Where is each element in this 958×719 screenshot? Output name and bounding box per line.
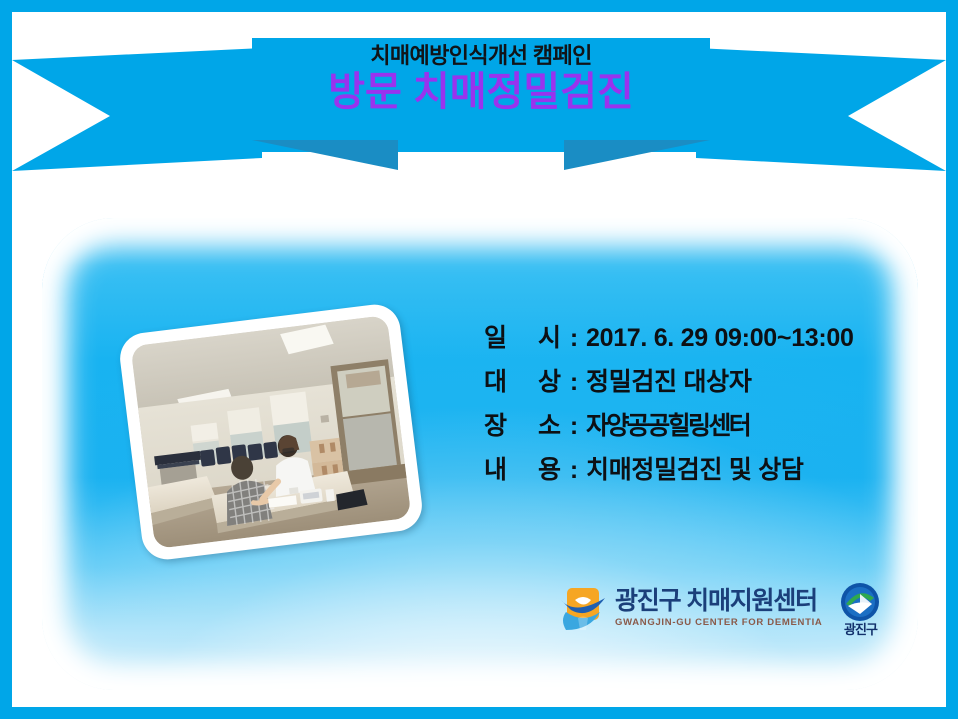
frame-border-left [0,0,12,719]
event-photo-image [131,315,412,549]
ribbon-banner [0,0,958,200]
info-value-content: 치매정밀검진 및 상담 [586,450,804,486]
info-value-place: 자양공공힐링센터 [586,406,749,442]
info-row-target: 대 상 : 정밀검진 대상자 [484,362,854,406]
dove-symbol-icon [560,586,606,632]
organization-logo: 광진구 치매지원센터 GWANGJIN-GU CENTER FOR DEMENT… [560,582,882,636]
ribbon-right-tail [696,48,946,171]
frame-border-bottom [0,707,958,719]
poster-canvas: 치매예방인식개선 캠페인 방문 치매정밀검진 [0,0,958,719]
logo-name-korean: 광진구 치매지원센터 [615,588,822,614]
info-row-place: 장 소 : 자양공공힐링센터 [484,406,854,450]
ribbon-fold-right [564,140,710,170]
ribbon-left-tail [12,48,262,171]
ribbon-center-band [252,38,710,152]
logo-name-english: GWANGJIN-GU CENTER FOR DEMENTIA [615,616,822,629]
gwangjin-gu-emblem: 광진구 [838,582,882,636]
info-label-date: 일 시 [484,318,562,354]
info-label-target: 대 상 [484,362,562,398]
info-colon-content: : [562,456,586,485]
info-value-target: 정밀검진 대상자 [586,362,752,398]
info-colon-place: : [562,412,586,441]
info-label-content: 내 용 [484,450,562,486]
info-row-date: 일 시 : 2017. 6. 29 09:00~13:00 [484,318,854,362]
info-row-content: 내 용 : 치매정밀검진 및 상담 [484,450,854,494]
logo-wordmark: 광진구 치매지원센터 GWANGJIN-GU CENTER FOR DEMENT… [615,588,822,630]
info-label-place: 장 소 [484,406,562,442]
event-photo [117,302,425,563]
info-colon-date: : [562,324,586,353]
frame-border-top [0,0,958,12]
info-colon-target: : [562,368,586,397]
info-value-date: 2017. 6. 29 09:00~13:00 [586,324,854,353]
frame-border-right [946,0,958,719]
event-info-list: 일 시 : 2017. 6. 29 09:00~13:00 대 상 : 정밀검진… [484,318,854,494]
emblem-label: 광진구 [844,623,877,636]
